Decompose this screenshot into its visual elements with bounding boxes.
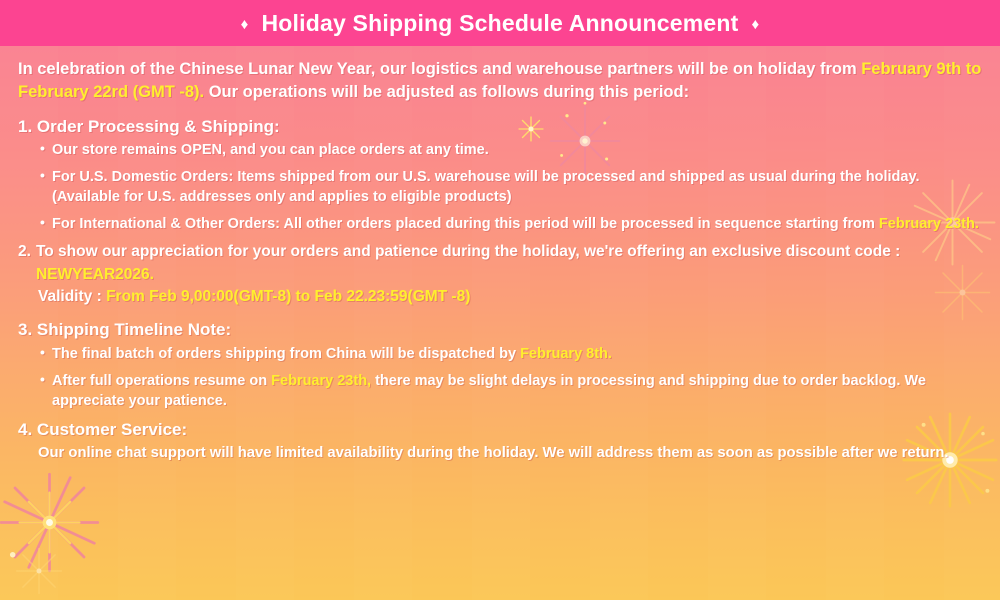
section-1-bullet-list: Our store remains OPEN, and you can plac… <box>18 140 982 234</box>
section-2-paragraph: 2. To show our appreciation for your ord… <box>18 241 982 286</box>
bullet-3-1-highlight: February 8th. <box>520 346 612 362</box>
section-4-heading: 4. Customer Service: <box>18 418 982 443</box>
section-2-body-pre: To show our appreciation for your orders… <box>36 243 900 260</box>
bullet-1-3-pre: For International & Other Orders: All ot… <box>52 216 879 232</box>
bullet-3-2-pre: After full operations resume on <box>52 373 271 389</box>
section-4-paragraph: Our online chat support will have limite… <box>18 443 982 464</box>
list-item: The final batch of orders shipping from … <box>40 344 982 364</box>
section-2-body: To show our appreciation for your orders… <box>36 241 982 286</box>
header-bar: ♦ Holiday Shipping Schedule Announcement… <box>0 0 1000 46</box>
firework-bottom-left-icon <box>0 465 107 580</box>
section-1-heading-text: Order Processing & Shipping: <box>37 117 280 136</box>
bullet-1-1-text: Our store remains OPEN, and you can plac… <box>52 142 489 158</box>
list-item: For International & Other Orders: All ot… <box>40 214 982 234</box>
diamond-right-icon: ♦ <box>752 17 760 32</box>
holiday-announcement-banner: ♦ Holiday Shipping Schedule Announcement… <box>0 0 1000 600</box>
firework-left-lower-icon <box>8 540 70 600</box>
section-2-number: 2. <box>18 241 31 263</box>
section-3-heading-text: Shipping Timeline Note: <box>37 320 231 339</box>
page-title: ♦ Holiday Shipping Schedule Announcement… <box>241 10 760 37</box>
section-4-heading-text: Customer Service: <box>37 420 187 439</box>
validity-value: From Feb 9,00:00(GMT-8) to Feb 22.23:59(… <box>106 288 470 305</box>
bullet-1-2-text: For U.S. Domestic Orders: Items shipped … <box>52 169 920 205</box>
validity-label: Validity : <box>38 288 106 305</box>
announcement-content: In celebration of the Chinese Lunar New … <box>0 46 1000 464</box>
bullet-3-1-pre: The final batch of orders shipping from … <box>52 346 520 362</box>
bullet-1-3-highlight: February 23th. <box>879 216 979 232</box>
section-customer-service: 4. Customer Service: Our online chat sup… <box>18 418 982 464</box>
section-1-heading: 1. Order Processing & Shipping: <box>18 115 982 140</box>
bullet-3-2-highlight: February 23th, <box>271 373 371 389</box>
intro-part1: In celebration of the Chinese Lunar New … <box>18 60 861 78</box>
section-3-bullet-list: The final batch of orders shipping from … <box>18 344 982 411</box>
intro-paragraph: In celebration of the Chinese Lunar New … <box>18 58 982 105</box>
section-3-number: 3. <box>18 320 32 339</box>
section-2-validity: Validity : From Feb 9,00:00(GMT-8) to Fe… <box>18 286 982 308</box>
discount-code-value: NEWYEAR2026. <box>36 266 154 283</box>
list-item: After full operations resume on February… <box>40 371 982 411</box>
section-4-number: 4. <box>18 420 32 439</box>
section-3-heading: 3. Shipping Timeline Note: <box>18 318 982 343</box>
list-item: Our store remains OPEN, and you can plac… <box>40 140 982 160</box>
section-order-processing: 1. Order Processing & Shipping: Our stor… <box>18 115 982 235</box>
diamond-left-icon: ♦ <box>241 17 249 32</box>
list-item: For U.S. Domestic Orders: Items shipped … <box>40 167 982 207</box>
section-discount-code: 2. To show our appreciation for your ord… <box>18 241 982 308</box>
page-title-text: Holiday Shipping Schedule Announcement <box>262 10 739 37</box>
section-shipping-timeline: 3. Shipping Timeline Note: The final bat… <box>18 318 982 411</box>
intro-part2: Our operations will be adjusted as follo… <box>204 83 689 101</box>
section-1-number: 1. <box>18 117 32 136</box>
